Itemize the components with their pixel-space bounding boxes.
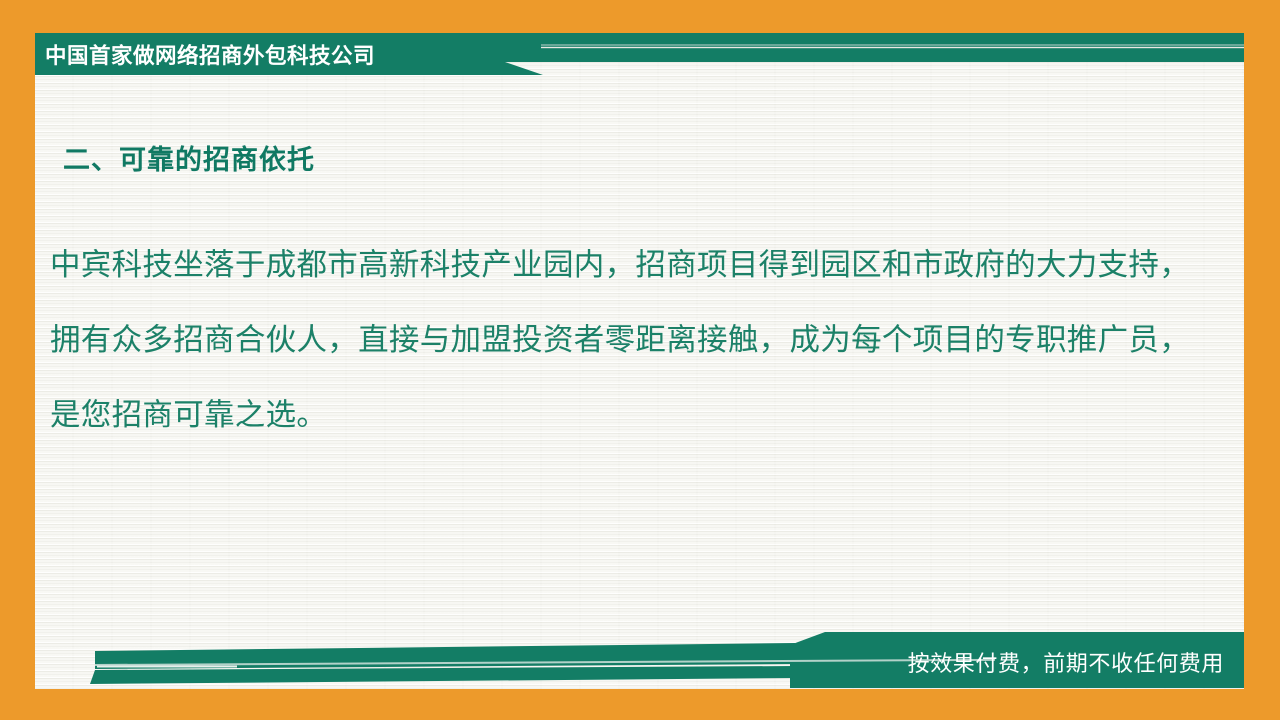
section-heading: 二、可靠的招商依托 xyxy=(63,138,315,177)
header-band-accent-rule xyxy=(541,44,1244,47)
footer-band-left-dash xyxy=(97,666,237,668)
footer-tagline: 按效果付费，前期不收任何费用 xyxy=(908,647,1224,681)
body-paragraph: 中宾科技坐落于成都市高新科技产业园内，招商项目得到园区和市政府的大力支持，拥有众… xyxy=(50,228,1190,453)
footer-band-left-strip-bottom xyxy=(90,666,795,684)
slide-canvas: 中国首家做网络招商外包科技公司 二、可靠的招商依托 中宾科技坐落于成都市高新科技… xyxy=(0,0,1280,720)
header-title: 中国首家做网络招商外包科技公司 xyxy=(45,40,515,72)
header-band-hairline xyxy=(541,47,1244,48)
